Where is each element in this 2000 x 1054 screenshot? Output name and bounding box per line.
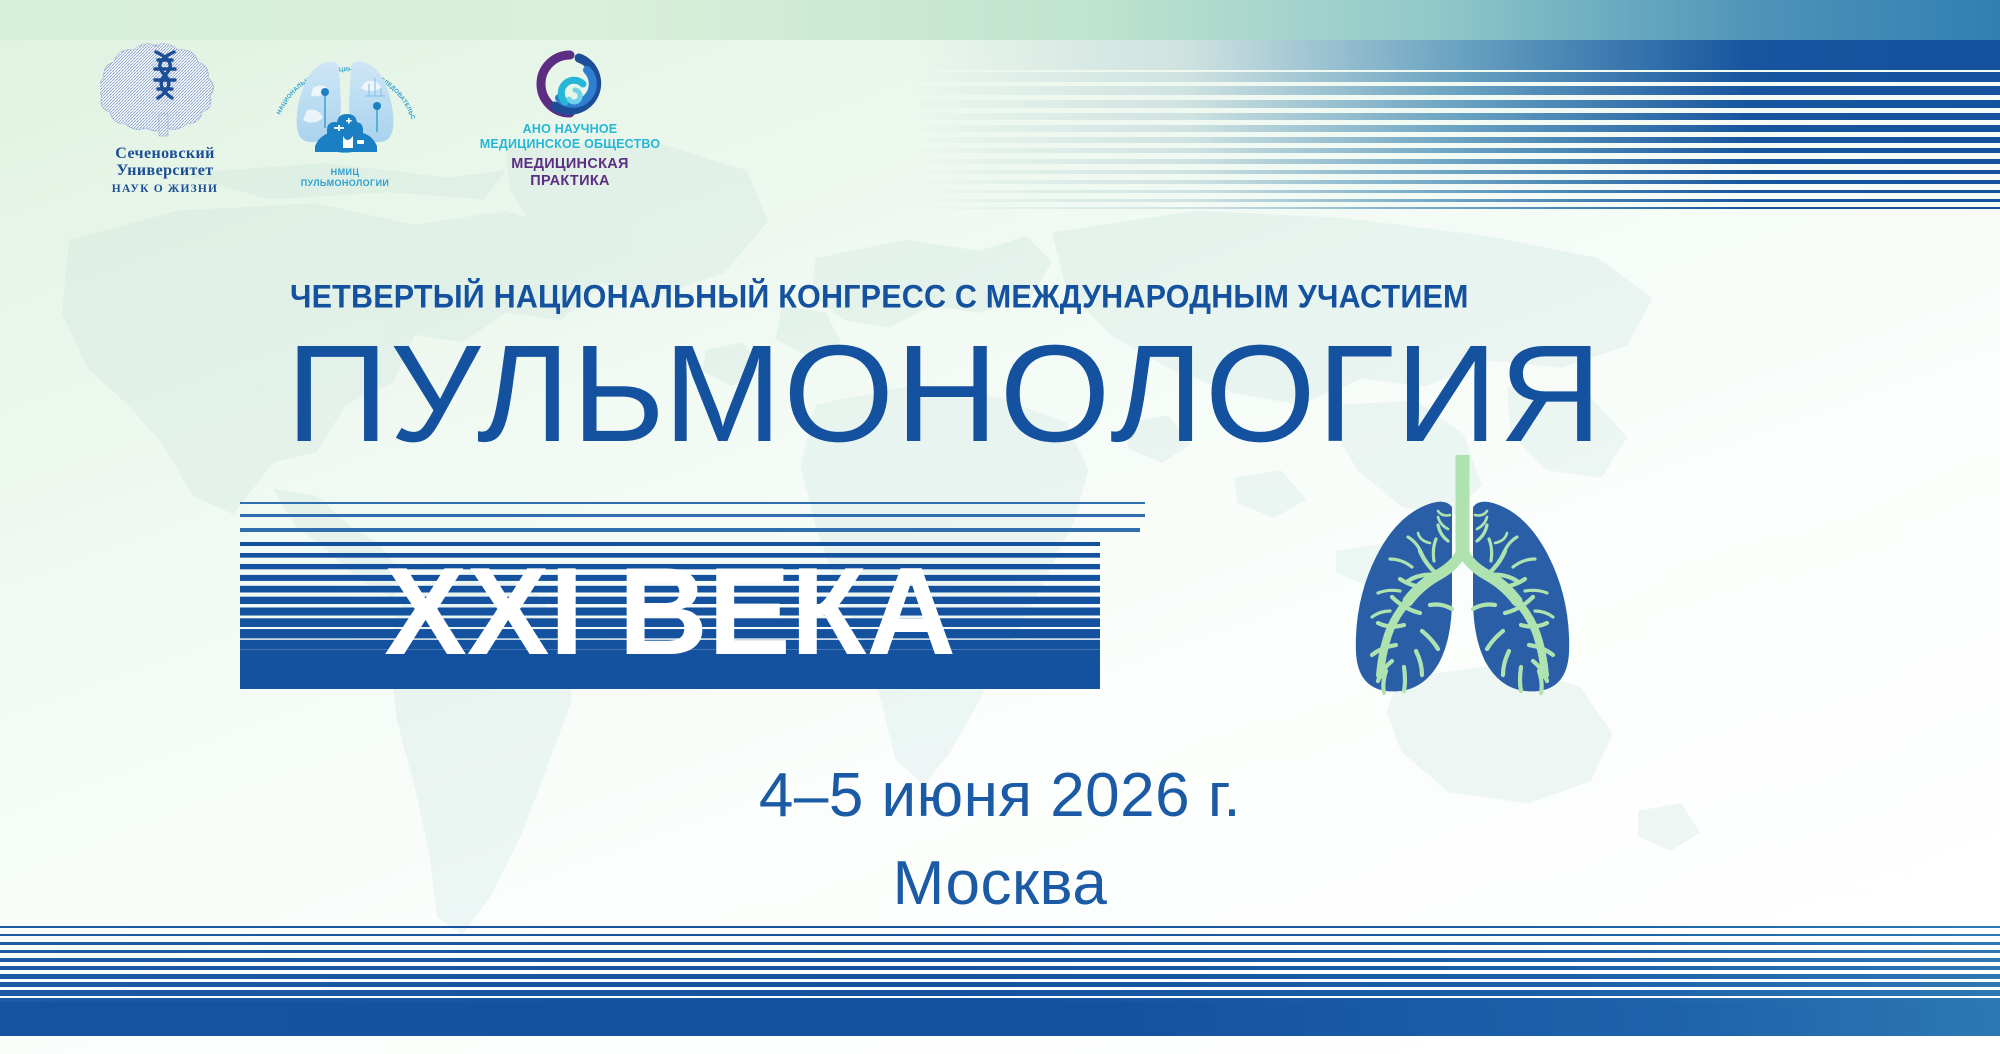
lungs-icon	[1330, 455, 1595, 705]
sechenov-line-1: Сеченовский	[70, 145, 260, 162]
sechenov-line-3: НАУК О ЖИЗНИ	[70, 183, 260, 195]
logo-sechenov-university: Сеченовский Университет НАУК О ЖИЗНИ	[70, 36, 260, 195]
amp-purple-line-2: ПРАКТИКА	[465, 173, 675, 190]
congress-title: ПУЛЬМОНОЛОГИЯ	[286, 325, 1921, 463]
logo-nmic-pulmonology: НАЦИОНАЛЬНЫЙ МЕДИЦИНСКИЙ ИССЛЕДОВАТЕЛЬСК…	[255, 32, 435, 190]
partner-logos: Сеченовский Университет НАУК О ЖИЗНИ НАЦ…	[0, 28, 720, 208]
amp-purple-line-1: МЕДИЦИНСКАЯ	[465, 156, 675, 173]
congress-kicker: ЧЕТВЕРТЫЙ НАЦИОНАЛЬНЫЙ КОНГРЕСС С МЕЖДУН…	[290, 279, 1860, 316]
sechenov-line-2: Университет	[70, 162, 260, 179]
amp-cyan-line-2: МЕДИЦИНСКОЕ ОБЩЕСТВО	[465, 137, 675, 152]
event-date: 4–5 июня 2026 г.	[690, 760, 1310, 831]
amp-cyan-line-1: АНО НАУЧНОЕ	[465, 122, 675, 137]
subtitle-text: XXI ВЕКА	[384, 543, 956, 681]
logo-medical-practice: АНО НАУЧНОЕ МЕДИЦИНСКОЕ ОБЩЕСТВО МЕДИЦИН…	[465, 50, 675, 190]
subtitle-stripes: XXI ВЕКА	[240, 542, 1100, 689]
subtitle-striped-block: XXI ВЕКА	[226, 500, 1156, 695]
bottom-solid-band	[0, 1002, 2000, 1036]
nmic-line-1: НМИЦ	[255, 167, 435, 178]
event-city: Москва	[690, 848, 1310, 919]
tree-dna-icon	[100, 36, 230, 140]
nmic-line-2: ПУЛЬМОНОЛОГИИ	[255, 178, 435, 189]
congress-banner: Сеченовский Университет НАУК О ЖИЗНИ НАЦ…	[0, 0, 2000, 1054]
spiral-nautilus-icon	[535, 50, 605, 118]
lungs-doctors-icon: НАЦИОНАЛЬНЫЙ МЕДИЦИНСКИЙ ИССЛЕДОВАТЕЛЬСК…	[265, 32, 425, 160]
